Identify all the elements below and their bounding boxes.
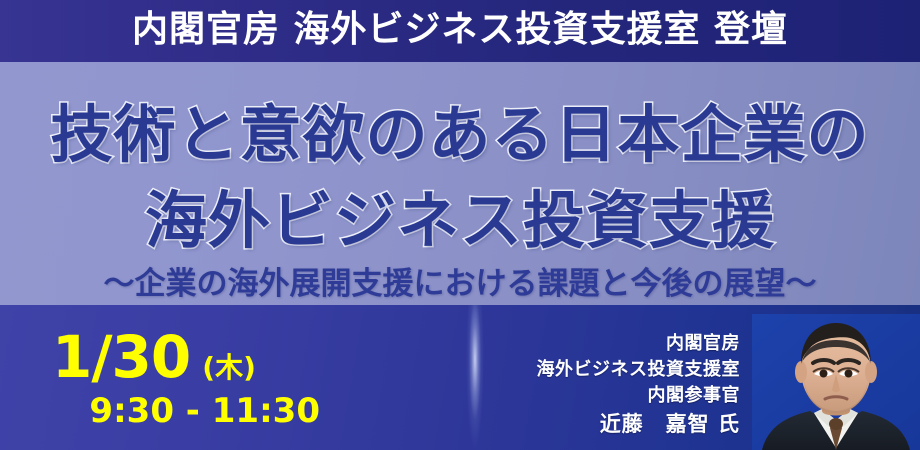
- portrait-illustration: [752, 314, 920, 450]
- event-day-of-week: (木): [202, 351, 256, 384]
- speaker-organization: 内閣官房: [440, 331, 740, 357]
- event-date: 1/30: [52, 323, 190, 391]
- main-title-line-1: 技術と意欲のある日本企業の: [0, 84, 920, 174]
- speaker-info: 内閣官房 海外ビジネス投資支援室 内閣参事官 近藤 嘉智 氏: [440, 331, 740, 439]
- speaker-department: 海外ビジネス投資支援室: [440, 357, 740, 383]
- header-band: 内閣官房 海外ビジネス投資支援室 登壇: [0, 0, 920, 62]
- header-title: 内閣官房 海外ビジネス投資支援室 登壇: [0, 0, 920, 62]
- main-title-line-2: 海外ビジネス投資支援: [0, 170, 920, 260]
- speaker-name: 近藤 嘉智 氏: [440, 409, 740, 439]
- date-row: 1/30(木): [52, 323, 256, 391]
- subtitle: 〜企業の海外展開支援における課題と今後の展望〜: [0, 258, 920, 303]
- speaker-position: 内閣参事官: [440, 383, 740, 409]
- seminar-banner: 内閣官房 海外ビジネス投資支援室 登壇 技術と意欲のある日本企業の 海外ビジネス…: [0, 0, 920, 450]
- speaker-portrait-photo: [752, 314, 920, 450]
- title-band: 技術と意欲のある日本企業の 海外ビジネス投資支援 〜企業の海外展開支援における課…: [0, 62, 920, 305]
- event-time: 9:30 - 11:30: [0, 391, 320, 431]
